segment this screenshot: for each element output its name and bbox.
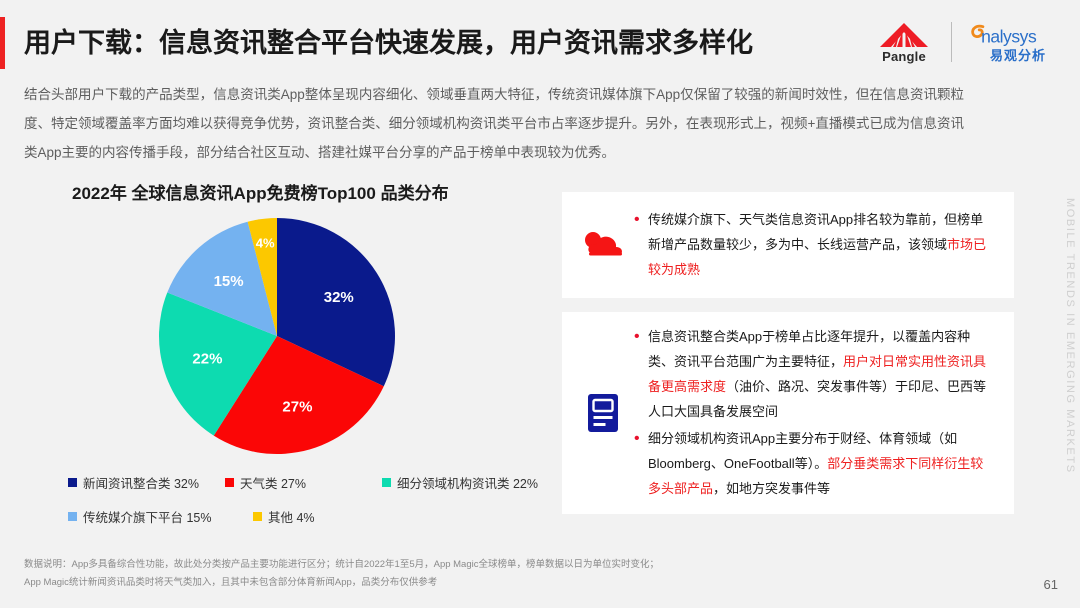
legend-swatch-icon [225,478,234,487]
slide-canvas: 用户下载：信息资讯整合平台快速发展，用户资讯需求多样化 Pangle nalys… [0,0,1080,608]
plain-phrase: ，如地方突发事件等 [713,481,830,496]
pie-slice-value-label: 22% [192,351,222,368]
bullet-dot-icon: • [634,324,648,424]
footnote-line-1: 数据说明：App多具备综合性功能，故此处分类按产品主要功能进行区分；统计自202… [24,556,724,574]
bullet-dot-icon: • [634,207,648,282]
legend-row: 传统媒介旗下平台 15% 其他 4% [68,507,538,526]
chart-legend: 新闻资讯整合类 32% 天气类 27% 细分领域机构资讯类 22% 传统媒介旗下… [68,473,538,541]
footnote-line-2: App Magic统计新闻资讯品类时将天气类加入，且其中未包含部分体育新闻App… [24,574,724,592]
bullet-text: 信息资讯整合类App于榜单占比逐年提升，以覆盖内容种类、资讯平台范围广为主要特征… [648,324,996,424]
pie-slice-value-label: 27% [282,398,312,415]
analysys-logo: nalysys 易观分析 [966,23,1070,62]
insight-card-1: •传统媒介旗下、天气类信息资讯App排名较为靠前，但榜单新增产品数量较少，多为中… [562,192,1014,298]
bullet-text: 传统媒介旗下、天气类信息资讯App排名较为靠前，但榜单新增产品数量较少，多为中、… [648,207,996,282]
legend-swatch-icon [382,478,391,487]
legend-row: 新闻资讯整合类 32% 天气类 27% 细分领域机构资讯类 22% [68,473,538,492]
legend-swatch-icon [68,478,77,487]
intro-paragraph: 结合头部用户下载的产品类型，信息资讯类App整体呈现内容细化、领域垂直两大特征，… [24,80,964,167]
card-icon-wrapper [572,392,634,434]
bullet-item: •信息资讯整合类App于榜单占比逐年提升，以覆盖内容种类、资讯平台范围广为主要特… [634,324,996,424]
bullet-item: •传统媒介旗下、天气类信息资讯App排名较为靠前，但榜单新增产品数量较少，多为中… [634,207,996,282]
pie-slice-value-label: 32% [324,289,354,306]
legend-item-4[interactable]: 其他 4% [253,507,438,526]
legend-label: 其他 4% [268,507,315,526]
plain-phrase: 传统媒介旗下、天气类信息资讯App排名较为靠前，但榜单新增产品数量较少，多为中、… [648,212,983,252]
bullet-text: 细分领域机构资讯App主要分布于财经、体育领域（如Bloomberg、OneFo… [648,426,996,501]
pangle-wordmark: Pangle [882,50,926,63]
legend-label: 天气类 27% [240,473,306,492]
legend-label: 传统媒介旗下平台 15% [83,507,212,526]
brand-divider [951,22,952,62]
legend-item-0[interactable]: 新闻资讯整合类 32% [68,473,225,492]
pie-chart[interactable]: 32%27%22%15%4% [157,216,397,456]
pangle-logo: Pangle [871,22,937,63]
analysys-wordmark-icon: nalysys [966,23,1070,47]
legend-label: 新闻资讯整合类 32% [83,473,199,492]
legend-item-2[interactable]: 细分领域机构资讯类 22% [382,473,538,492]
legend-item-1[interactable]: 天气类 27% [225,473,382,492]
article-icon [586,392,620,434]
legend-item-3[interactable]: 传统媒介旗下平台 15% [68,507,253,526]
cloud-icon [580,229,626,261]
chart-title: 2022年 全球信息资讯App免费榜Top100 品类分布 [72,179,449,204]
insight-card-2: •信息资讯整合类App于榜单占比逐年提升，以覆盖内容种类、资讯平台范围广为主要特… [562,312,1014,514]
side-series-label: MOBILE TRENDS IN EMERGING MARKETS [1064,198,1076,474]
card-icon-wrapper [572,229,634,261]
legend-label: 细分领域机构资讯类 22% [397,473,538,492]
analysys-chinese-name: 易观分析 [990,49,1046,62]
pie-chart-svg[interactable]: 32%27%22%15%4% [157,216,397,456]
brand-area: Pangle nalysys 易观分析 [871,14,1070,70]
insight-card-2-body: •信息资讯整合类App于榜单占比逐年提升，以覆盖内容种类、资讯平台范围广为主要特… [634,324,996,503]
svg-text:nalysys: nalysys [981,26,1037,46]
pangle-mountain-icon [871,22,937,49]
bullet-item: •细分领域机构资讯App主要分布于财经、体育领域（如Bloomberg、OneF… [634,426,996,501]
legend-swatch-icon [68,512,77,521]
insight-card-1-body: •传统媒介旗下、天气类信息资讯App排名较为靠前，但榜单新增产品数量较少，多为中… [634,207,996,284]
footnote: 数据说明：App多具备综合性功能，故此处分类按产品主要功能进行区分；统计自202… [24,556,724,592]
page-number: 61 [1044,577,1058,592]
pie-slice-value-label: 15% [214,273,244,290]
title-accent-bar [0,17,5,69]
pie-slice-value-label: 4% [256,235,275,250]
legend-swatch-icon [253,512,262,521]
chart-panel: 2022年 全球信息资讯App免费榜Top100 品类分布 32%27%22%1… [22,168,550,540]
pie-slices [159,218,395,454]
page-title: 用户下载：信息资讯整合平台快速发展，用户资讯需求多样化 [24,21,753,60]
bullet-dot-icon: • [634,426,648,501]
